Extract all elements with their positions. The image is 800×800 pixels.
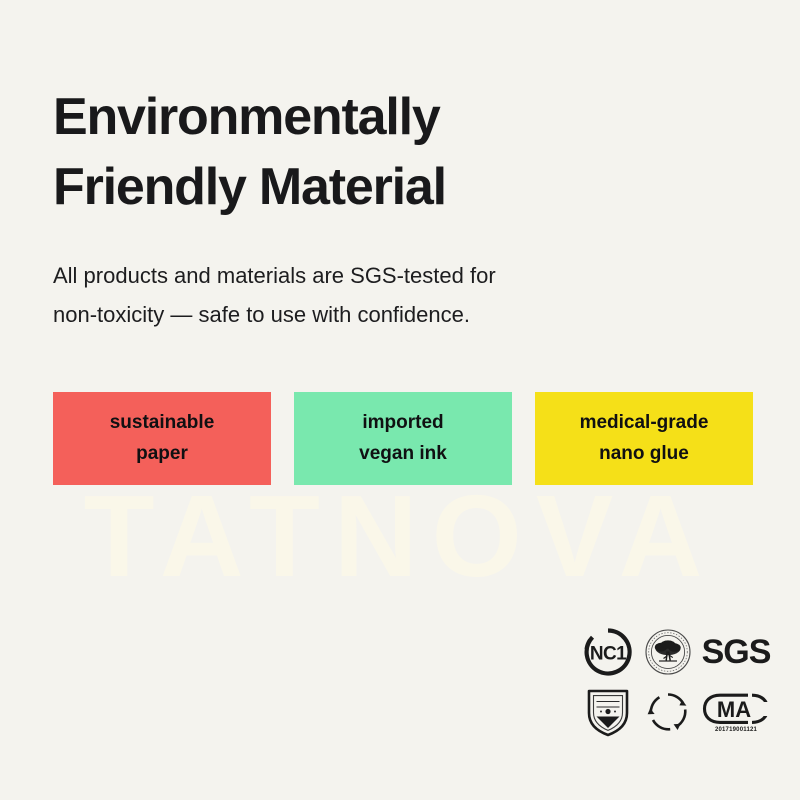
recycle-icon [638,682,698,742]
page-subcopy-line-2: non-toxicity — safe to use with confiden… [53,295,653,334]
chip-label-line-2: paper [136,439,188,470]
cma-certificate-number: 201719001121 [715,727,757,733]
chip-label-line-2: vegan ink [359,439,447,470]
page-subcopy-line-1: All products and materials are SGS-teste… [53,256,653,295]
page-title-line-2: Friendly Material [53,153,713,223]
chip-label-line-1: medical-grade [580,408,709,439]
material-chip-nano-glue: medical-grade nano glue [535,392,753,485]
chip-label-line-2: nano glue [599,439,689,470]
material-chip-group: sustainable paper imported vegan ink med… [53,392,753,485]
svg-text:MA: MA [717,697,751,722]
nc1-icon: NC1 [578,622,638,682]
brand-watermark: TATNOVA [0,478,800,594]
sgs-label: SGS [702,635,771,669]
chip-label-line-1: sustainable [110,408,215,439]
material-chip-sustainable-paper: sustainable paper [53,392,271,485]
page-title-line-1: Environmentally [53,83,713,153]
sgs-icon: SGS [698,622,774,682]
shield-icon [578,682,638,742]
material-chip-vegan-ink: imported vegan ink [294,392,512,485]
poster-canvas: TATNOVA Environmentally Friendly Materia… [0,0,800,800]
page-title: Environmentally Friendly Material [53,83,713,222]
certification-badge-group: NC1 SGS [578,622,774,742]
chip-label-line-1: imported [362,408,443,439]
svg-text:NC1: NC1 [590,644,627,665]
tree-seal-icon [638,622,698,682]
page-subcopy: All products and materials are SGS-teste… [53,256,653,334]
cma-icon: MA 201719001121 [698,682,774,742]
